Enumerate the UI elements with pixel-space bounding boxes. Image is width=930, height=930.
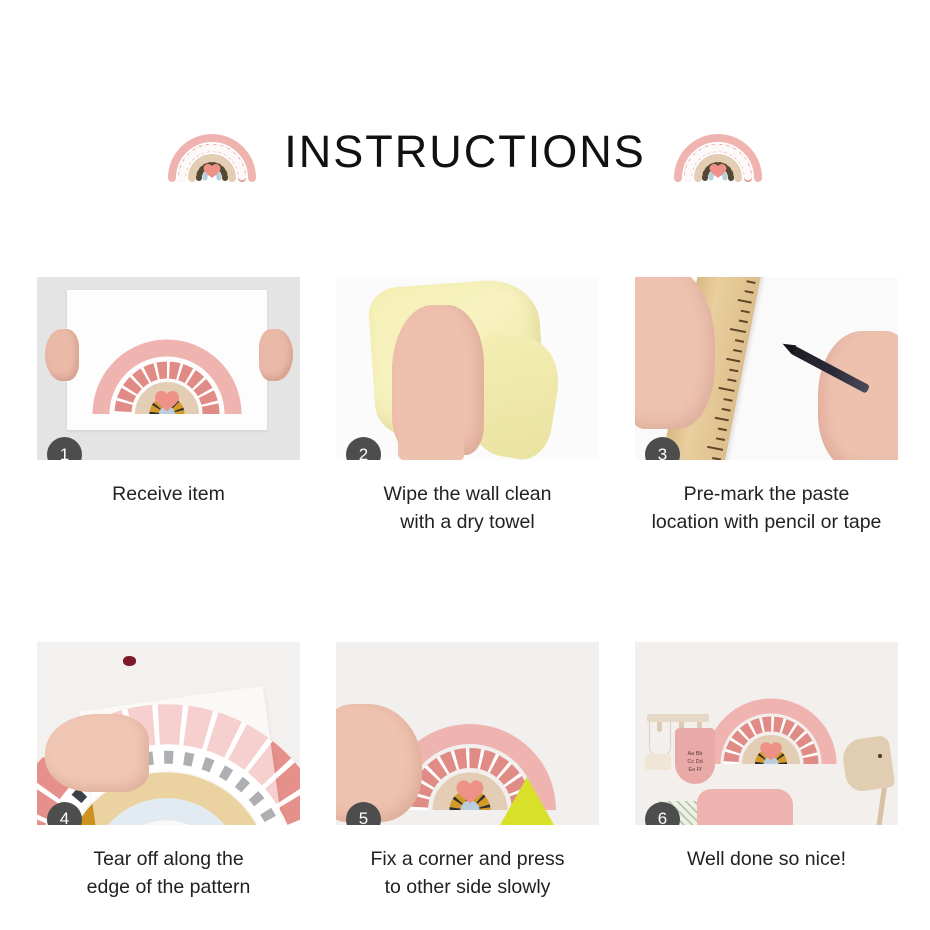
caption-line: to other side slowly xyxy=(336,873,599,901)
rainbow-icon xyxy=(672,120,764,182)
step-image-5: 5 xyxy=(336,642,599,825)
caption-line: Tear off along the xyxy=(37,845,300,873)
caption-line: Wipe the wall clean xyxy=(336,480,599,508)
caption-line: Receive item xyxy=(37,480,300,508)
bag-letters-line: Ee Ff xyxy=(688,767,701,773)
instructions-page: INSTRUCTIONS xyxy=(0,0,930,930)
bag-letters-line: Aa Bb xyxy=(688,751,703,757)
step-caption-6: Well done so nice! xyxy=(635,845,898,873)
wooden-unicorn-toy xyxy=(841,734,896,792)
step-image-2: 2 xyxy=(336,277,599,460)
step-caption-1: Receive item xyxy=(37,480,300,508)
caption-line: Well done so nice! xyxy=(635,845,898,873)
toy-camera xyxy=(645,754,671,770)
step-caption-2: Wipe the wall clean with a dry towel xyxy=(336,480,599,537)
step-image-3: 3 xyxy=(635,277,898,460)
step-badge: 1 xyxy=(47,437,82,460)
step-card-4: 4 Tear off along the edge of the pattern xyxy=(37,642,300,902)
rainbow-artwork xyxy=(67,290,267,430)
step-card-3: 3 Pre-mark the paste location with penci… xyxy=(635,277,898,537)
peg-rail xyxy=(647,714,709,722)
wrist xyxy=(398,409,464,460)
fingernail xyxy=(123,656,136,666)
step-card-6: Aa Bb Cc Dd Ee Ff 6 Well done so nice! xyxy=(635,642,898,902)
steps-row-1: 1 Receive item 2 Wipe the wall clean wit xyxy=(37,277,898,537)
steps-grid: 1 Receive item 2 Wipe the wall clean wit xyxy=(37,277,898,901)
hand-right xyxy=(259,329,293,381)
squeegee-tool xyxy=(491,777,563,825)
printed-sheet xyxy=(67,290,267,430)
hand-left xyxy=(45,329,79,381)
bag-letters-line: Cc Dd xyxy=(687,759,702,765)
step-caption-5: Fix a corner and press to other side slo… xyxy=(336,845,599,902)
caption-line: Fix a corner and press xyxy=(336,845,599,873)
alphabet-bag: Aa Bb Cc Dd Ee Ff xyxy=(675,728,715,784)
caption-line: edge of the pattern xyxy=(37,873,300,901)
step-badge: 2 xyxy=(346,437,381,460)
unicorn-eye xyxy=(878,754,882,758)
step-image-6: Aa Bb Cc Dd Ee Ff 6 xyxy=(635,642,898,825)
step-caption-4: Tear off along the edge of the pattern xyxy=(37,845,300,902)
pink-pillow xyxy=(697,789,793,825)
rainbow-icon xyxy=(166,120,258,182)
step-image-4: 4 xyxy=(37,642,300,825)
caption-line: with a dry towel xyxy=(336,508,599,536)
step-caption-3: Pre-mark the paste location with pencil … xyxy=(635,480,898,537)
step-card-5: 5 Fix a corner and press to other side s… xyxy=(336,642,599,902)
hand-peeling xyxy=(45,714,149,792)
hand-holding-pencil xyxy=(818,331,898,460)
hanging-strap xyxy=(649,722,671,757)
caption-line: location with pencil or tape xyxy=(635,508,898,536)
page-title: INSTRUCTIONS xyxy=(284,129,646,174)
step-image-1: 1 xyxy=(37,277,300,460)
hand-holding-ruler xyxy=(635,277,715,429)
step-card-2: 2 Wipe the wall clean with a dry towel xyxy=(336,277,599,537)
caption-line: Pre-mark the paste xyxy=(635,480,898,508)
step-card-1: 1 Receive item xyxy=(37,277,300,537)
steps-row-2: 4 Tear off along the edge of the pattern xyxy=(37,642,898,902)
page-header: INSTRUCTIONS xyxy=(0,108,930,194)
